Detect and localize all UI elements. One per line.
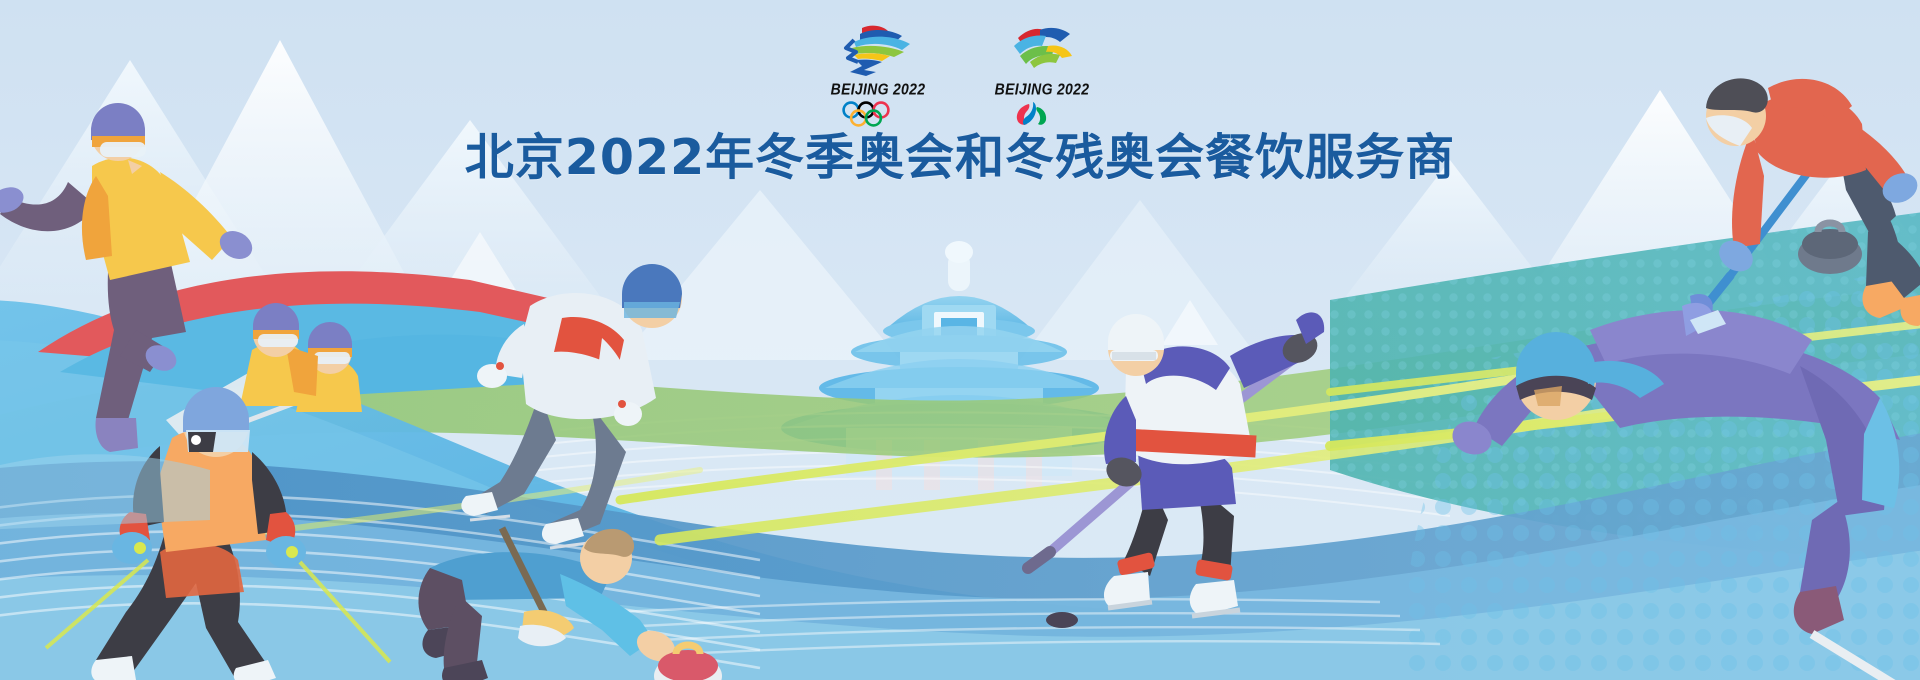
olympics-catering-banner: BEIJING 2022 BEIJING 2022 [0, 0, 1920, 680]
scene-artwork [0, 0, 1920, 680]
